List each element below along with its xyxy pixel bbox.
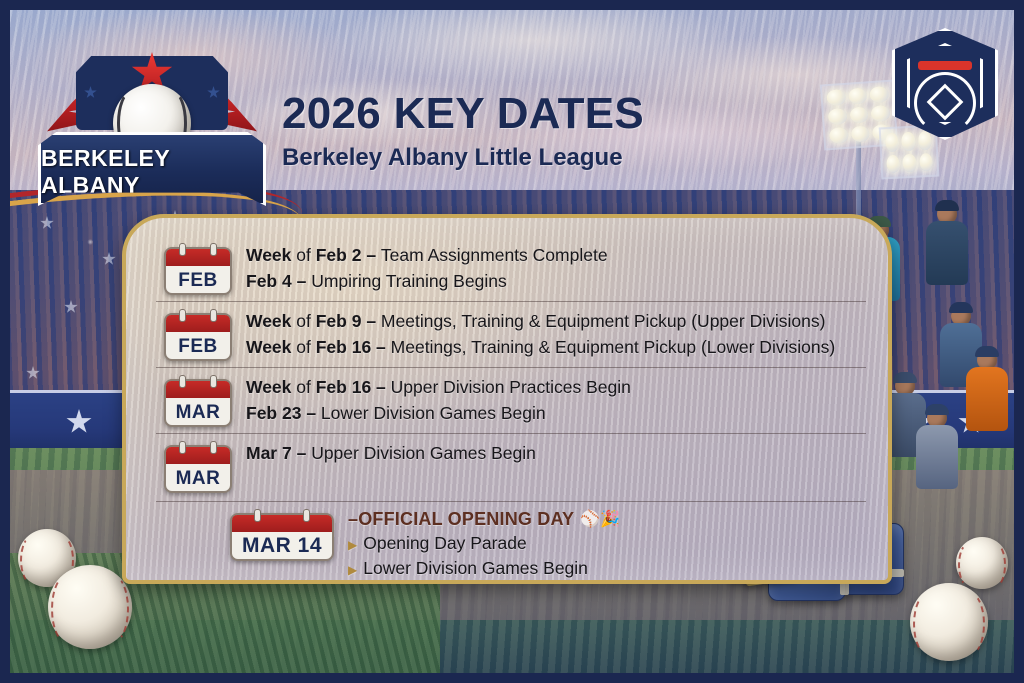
line-date: Mar 7 [246, 443, 292, 463]
line-date: Feb 16 [316, 337, 371, 357]
triangle-bullet-icon: ▶ [348, 563, 357, 577]
schedule-line: Mar 7 – Upper Division Games Begin [246, 441, 866, 467]
schedule-line: Week of Feb 9 – Meetings, Training & Equ… [246, 309, 866, 335]
bullet-text: Opening Day Parade [363, 533, 526, 553]
calendar-month-label: MAR [166, 402, 230, 424]
list-item: ▶Opening Day Parade [348, 531, 866, 556]
key-dates-list: FEB Week of Feb 2 – Team Assignments Com… [126, 218, 888, 580]
line-dash: – [361, 311, 380, 331]
calendar-month-label: MAR 14 [232, 534, 332, 558]
schedule-group: FEB Week of Feb 2 – Team Assignments Com… [156, 236, 866, 301]
line-text: Upper Division Practices Begin [391, 377, 631, 397]
calendar-icon: MAR 14 [230, 513, 334, 561]
schedule-group: MAR Mar 7 – Upper Division Games Begin [156, 433, 866, 499]
logo-banner: BERKELEY ALBANY LITTLE LEAGUE [38, 132, 266, 206]
line-date: Feb 2 [316, 245, 362, 265]
triangle-bullet-icon: ▶ [348, 538, 357, 552]
header: 2026 KEY DATES Berkeley Albany Little Le… [282, 92, 644, 172]
line-mid: of [291, 337, 315, 357]
schedule-line: Week of Feb 16 – Meetings, Training & Eq… [246, 335, 866, 361]
line-date: Feb 16 [316, 377, 371, 397]
line-text: Umpiring Training Begins [311, 271, 507, 291]
schedule-line: Feb 23 – Lower Division Games Begin [246, 401, 866, 427]
opening-day-title: OFFICIAL OPENING DAY [358, 509, 574, 530]
bullet-text: Lower Division Games Begin [363, 558, 588, 578]
opening-day-title-row: – OFFICIAL OPENING DAY ⚾🎉 [348, 509, 866, 530]
line-dash: – [371, 377, 390, 397]
calendar-icon: FEB [164, 247, 232, 295]
logo-line-1: BERKELEY ALBANY [41, 145, 263, 199]
page-subtitle: Berkeley Albany Little League [282, 144, 644, 172]
opening-day-dash: – [348, 509, 358, 530]
calendar-month-label: FEB [166, 270, 230, 292]
line-dash: – [371, 337, 390, 357]
schedule-line: Feb 4 – Umpiring Training Begins [246, 269, 866, 295]
line-text: Meetings, Training & Equipment Pickup (L… [391, 337, 836, 357]
calendar-icon: FEB [164, 313, 232, 361]
line-dash: – [292, 443, 311, 463]
page-title: 2026 KEY DATES [282, 92, 644, 136]
opening-day-bullets: ▶Opening Day Parade ▶Lower Division Game… [348, 531, 866, 581]
line-dash: – [292, 271, 311, 291]
schedule-group: MAR Week of Feb 16 – Upper Division Prac… [156, 367, 866, 433]
baseball-celebration-icon: ⚾🎉 [580, 509, 620, 529]
line-date: Feb 4 [246, 271, 292, 291]
line-dash: – [361, 245, 380, 265]
baseball-illustration [956, 537, 1008, 589]
calendar-icon: MAR [164, 445, 232, 493]
schedule-line: Week of Feb 16 – Upper Division Practice… [246, 375, 866, 401]
calendar-month-label: MAR [166, 468, 230, 490]
line-text: Meetings, Training & Equipment Pickup (U… [381, 311, 826, 331]
line-lead: Week [246, 311, 291, 331]
line-mid: of [291, 311, 315, 331]
line-date: Feb 9 [316, 311, 362, 331]
key-dates-panel: FEB Week of Feb 2 – Team Assignments Com… [122, 214, 892, 584]
line-date: Feb 23 [246, 403, 301, 423]
schedule-line: Week of Feb 2 – Team Assignments Complet… [246, 243, 866, 269]
calendar-month-label: FEB [166, 336, 230, 358]
line-lead: Week [246, 245, 291, 265]
berkeley-albany-little-league-logo: BERKELEY ALBANY LITTLE LEAGUE [38, 34, 266, 206]
line-text: Team Assignments Complete [381, 245, 608, 265]
line-text: Upper Division Games Begin [311, 443, 536, 463]
line-mid: of [291, 377, 315, 397]
baseball-illustration [48, 565, 132, 649]
poster-stage: BERKELEY ALBANY LITTLE LEAGUE 2026 KEY D… [0, 0, 1024, 683]
line-dash: – [301, 403, 320, 423]
baseball-illustration [910, 583, 988, 661]
opening-day-group: MAR 14 – OFFICIAL OPENING DAY ⚾🎉 ▶Openin… [156, 502, 866, 584]
keystone-red-bar [918, 61, 972, 70]
line-text: Lower Division Games Begin [321, 403, 546, 423]
line-mid: of [291, 245, 315, 265]
schedule-group: FEB Week of Feb 9 – Meetings, Training &… [156, 301, 866, 367]
calendar-icon: MAR [164, 379, 232, 427]
line-lead: Week [246, 337, 291, 357]
line-lead: Week [246, 377, 291, 397]
list-item: ▶Lower Division Games Begin [348, 556, 866, 581]
